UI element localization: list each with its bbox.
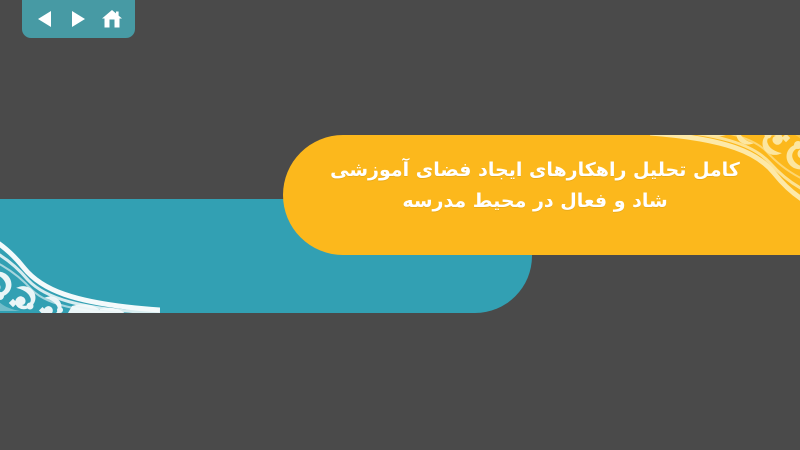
slide-title: کامل تحلیل راهکارهای ایجاد فضای آموزشی ش…	[300, 155, 770, 217]
home-icon	[101, 9, 123, 29]
triangle-right-icon	[70, 10, 86, 28]
navigation-toolbar	[22, 0, 135, 38]
home-button[interactable]	[98, 6, 126, 32]
next-button[interactable]	[64, 6, 92, 32]
triangle-left-icon	[37, 10, 53, 28]
previous-button[interactable]	[31, 6, 59, 32]
slide-canvas: کامل تحلیل راهکارهای ایجاد فضای آموزشی ش…	[0, 0, 800, 450]
slide-title-line-2: شاد و فعال در محیط مدرسه	[300, 186, 770, 217]
arabesque-corner-ornament-icon	[0, 199, 160, 313]
slide-title-line-1: کامل تحلیل راهکارهای ایجاد فضای آموزشی	[300, 155, 770, 186]
